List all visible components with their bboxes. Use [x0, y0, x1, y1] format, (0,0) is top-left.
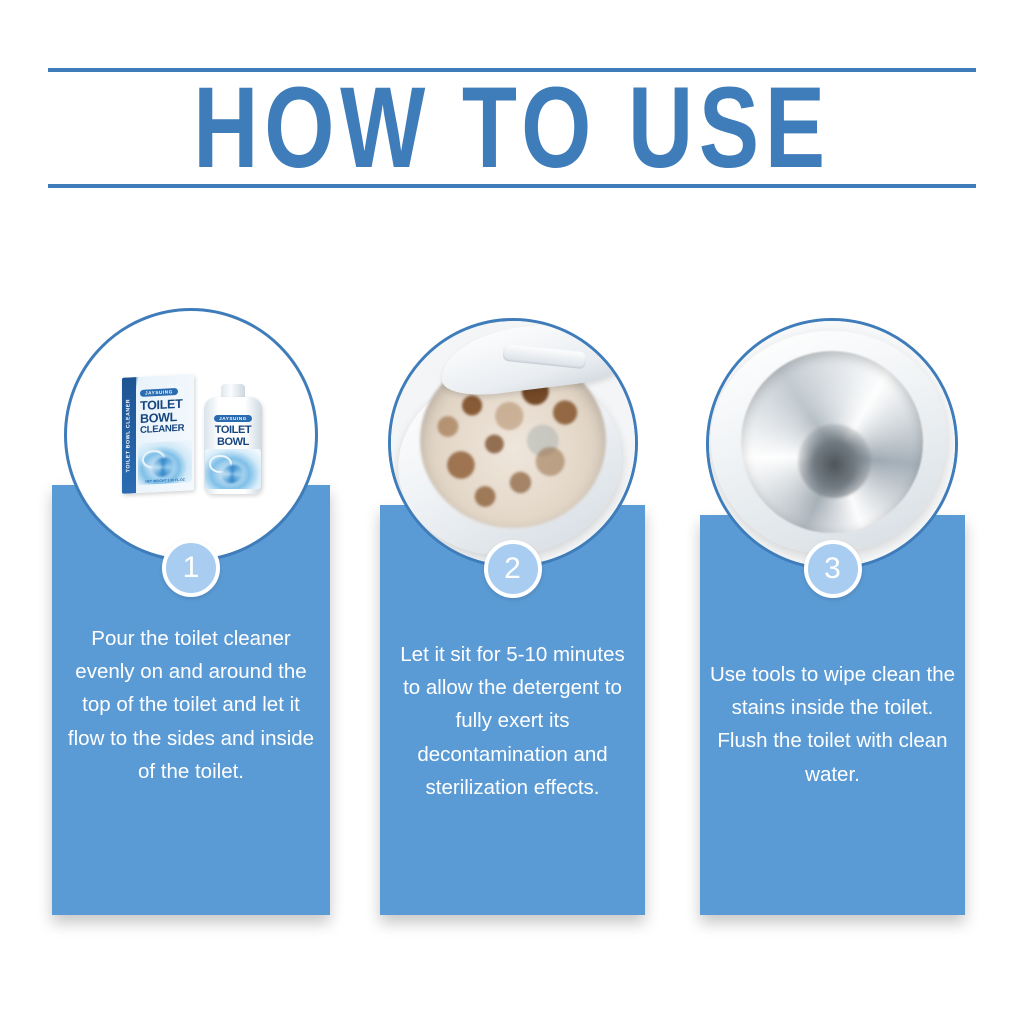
clean-toilet-photo — [709, 321, 955, 567]
step-1-photo: TOILET BOWL CLEANER JAYSUING TOILET BOWL… — [64, 308, 318, 562]
box-title-line-3: CLEANER — [140, 423, 190, 435]
page-title-wrap: HOW TO USE — [48, 72, 976, 184]
product-box-side-text: TOILET BOWL CLEANER — [126, 399, 132, 473]
box-toilet-bowl-graphic — [142, 449, 165, 469]
step-1-caption: Pour the toilet cleaner evenly on and ar… — [52, 622, 330, 788]
header: HOW TO USE — [48, 68, 976, 188]
product-group: TOILET BOWL CLEANER JAYSUING TOILET BOWL… — [116, 376, 266, 494]
infographic-page: HOW TO USE TOILET BOWL CLEANER JAYSUING — [0, 0, 1024, 1024]
step-3-caption: Use tools to wipe clean the stains insid… — [700, 658, 965, 791]
product-photo: TOILET BOWL CLEANER JAYSUING TOILET BOWL… — [67, 311, 315, 559]
step-3-number-badge: 3 — [804, 540, 862, 598]
box-net-weight: NET WEIGHT 3.38 FL.OZ — [138, 477, 192, 484]
step-2-caption: Let it sit for 5-10 minutes to allow the… — [380, 638, 645, 804]
water-vortex — [798, 424, 872, 498]
step-2-number-badge: 2 — [484, 540, 542, 598]
product-box-title: TOILET BOWL CLEANER — [140, 398, 190, 436]
bottle-toilet-bowl-graphic — [209, 455, 231, 473]
brand-logo: JAYSUING — [140, 388, 178, 398]
product-box-front: JAYSUING TOILET BOWL CLEANER NET WEIGHT … — [136, 374, 194, 493]
bottle-body: JAYSUING TOILET BOWL CLEANER — [204, 397, 262, 494]
product-box: TOILET BOWL CLEANER JAYSUING TOILET BOWL… — [122, 374, 194, 494]
step-3-photo — [706, 318, 958, 570]
page-title: HOW TO USE — [193, 71, 831, 186]
step-2-photo — [388, 318, 638, 568]
bottle-swirl-graphic — [205, 449, 261, 489]
product-bottle: JAYSUING TOILET BOWL CLEANER — [204, 384, 262, 494]
dirty-toilet-photo — [391, 321, 635, 565]
step-1-number-badge: 1 — [162, 539, 220, 597]
product-box-side-panel: TOILET BOWL CLEANER — [122, 377, 136, 494]
bottle-title-line-1: TOILET — [207, 425, 259, 436]
box-swirl-graphic: NET WEIGHT 3.38 FL.OZ — [138, 440, 192, 485]
bottle-brand-logo: JAYSUING — [214, 415, 252, 423]
steps-row: TOILET BOWL CLEANER JAYSUING TOILET BOWL… — [0, 300, 1024, 940]
